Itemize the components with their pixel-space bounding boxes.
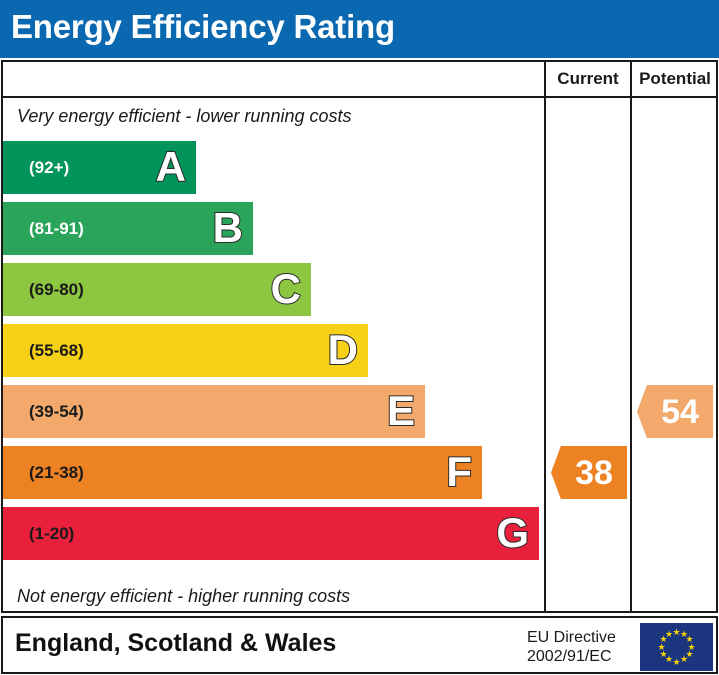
footer: England, Scotland & Wales EU Directive 2… — [1, 616, 718, 674]
band-range-g: (1-20) — [29, 507, 74, 560]
band-row-e: (39-54)E — [3, 385, 425, 438]
band-letter-e: E — [387, 385, 415, 438]
caption-top: Very energy efficient - lower running co… — [17, 106, 352, 127]
band-range-b: (81-91) — [29, 202, 84, 255]
band-letter-a: A — [156, 141, 186, 194]
band-range-f: (21-38) — [29, 446, 84, 499]
band-letter-g: G — [496, 507, 529, 560]
column-header-potential: Potential — [630, 62, 718, 96]
footer-region-label: England, Scotland & Wales — [15, 629, 336, 658]
directive-line-2: 2002/91/EC — [527, 647, 616, 666]
current-rating-marker: 38 — [551, 446, 627, 499]
band-row-c: (69-80)C — [3, 263, 311, 316]
footer-directive: EU Directive 2002/91/EC — [527, 628, 616, 666]
current-rating-marker-value: 38 — [565, 456, 613, 490]
column-separator-potential — [630, 98, 632, 611]
band-row-g: (1-20)G — [3, 507, 539, 560]
band-letter-f: F — [446, 446, 472, 499]
caption-bottom: Not energy efficient - higher running co… — [17, 586, 350, 607]
band-letter-b: B — [213, 202, 243, 255]
column-header-current: Current — [544, 62, 630, 96]
directive-line-1: EU Directive — [527, 628, 616, 647]
band-range-d: (55-68) — [29, 324, 84, 377]
band-range-c: (69-80) — [29, 263, 84, 316]
column-header-row: Current Potential — [3, 62, 716, 98]
potential-rating-marker: 54 — [637, 385, 713, 438]
band-row-f: (21-38)F — [3, 446, 482, 499]
page-title: Energy Efficiency Rating — [11, 8, 395, 46]
band-range-e: (39-54) — [29, 385, 84, 438]
chart-frame: Current Potential Very energy efficient … — [1, 60, 718, 613]
eu-flag-icon: ★★★★★★★★★★★★ — [640, 623, 713, 671]
energy-efficiency-certificate: Energy Efficiency Rating Current Potenti… — [0, 0, 719, 675]
title-bar: Energy Efficiency Rating — [0, 0, 719, 58]
column-separator-current — [544, 98, 546, 611]
band-letter-c: C — [271, 263, 301, 316]
band-letter-d: D — [328, 324, 358, 377]
band-row-a: (92+)A — [3, 141, 196, 194]
band-row-b: (81-91)B — [3, 202, 253, 255]
band-row-d: (55-68)D — [3, 324, 368, 377]
potential-rating-marker-value: 54 — [651, 395, 699, 429]
band-range-a: (92+) — [29, 141, 69, 194]
eu-flag-star: ★ — [665, 630, 674, 639]
